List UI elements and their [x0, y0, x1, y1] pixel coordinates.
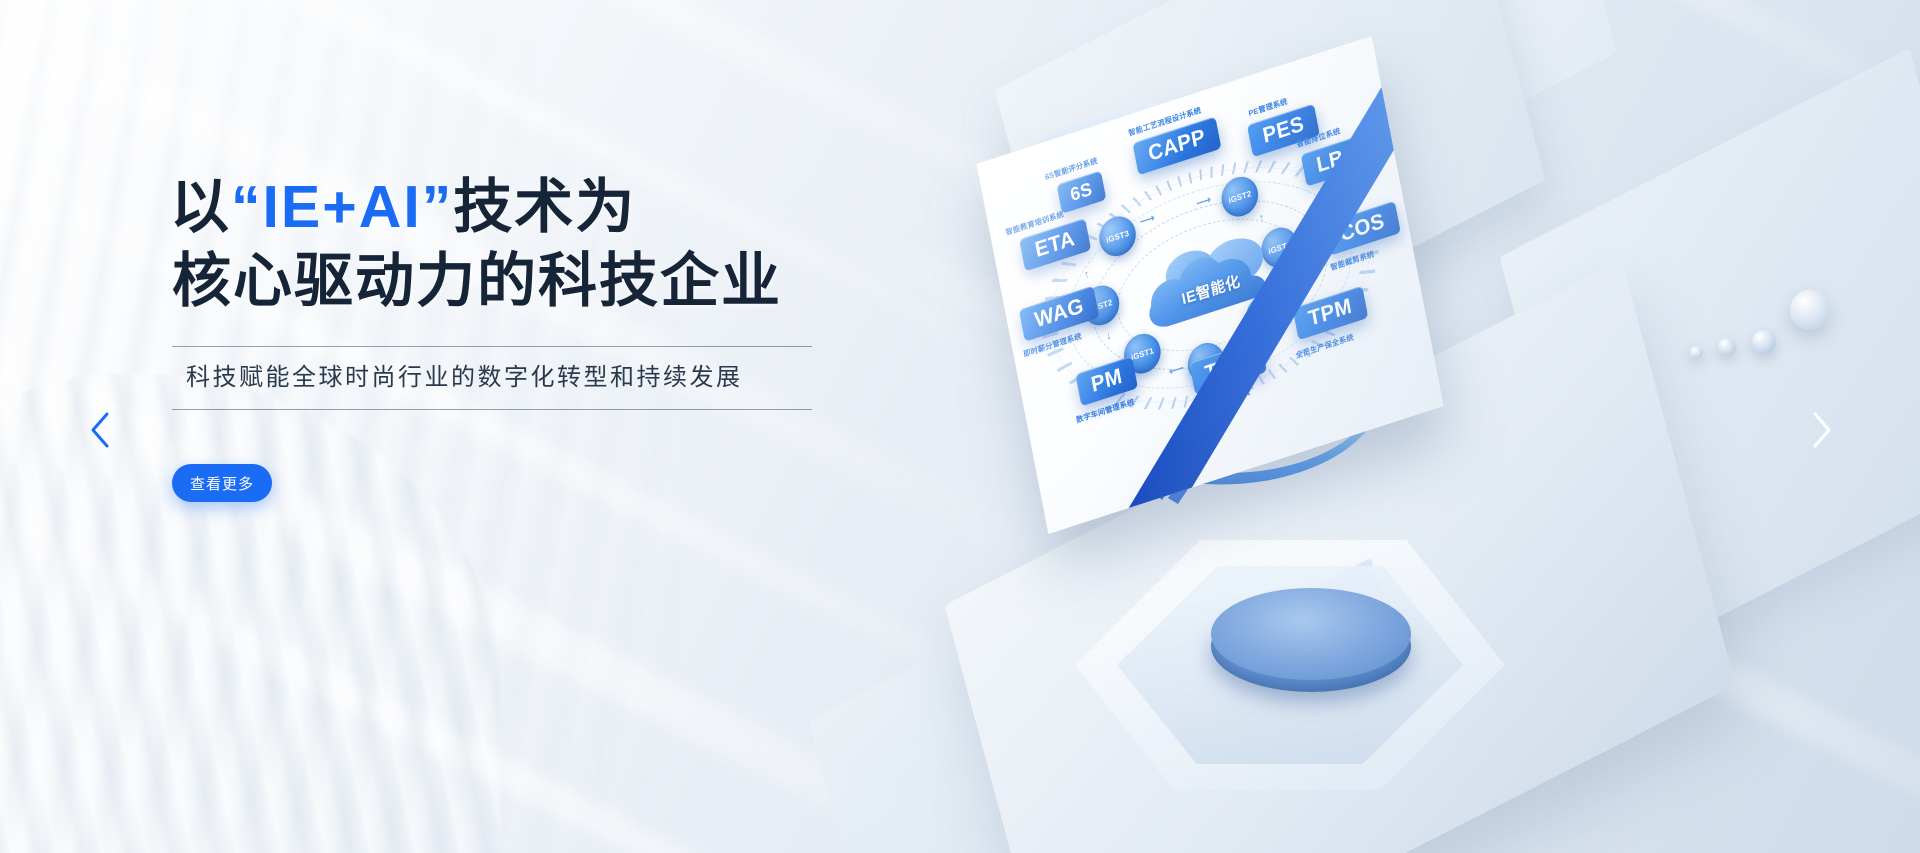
- hero-text-block: 以“IE+AI”技术为 核心驱动力的科技企业 科技赋能全球时尚行业的数字化转型和…: [170, 170, 870, 502]
- hero-banner: iGST3 iGST2 iGST1 iGST6 iGST5 iGST4 iGST…: [0, 0, 1920, 853]
- page-title-line-1: 以“IE+AI”技术为: [170, 170, 870, 244]
- headline-quote-open: “: [231, 174, 263, 240]
- headline-prefix: 以: [170, 174, 231, 240]
- headline-suffix: 技术为: [453, 174, 636, 240]
- satellite-label: iGST3: [1105, 228, 1129, 244]
- headline-quote-close: ”: [422, 174, 454, 240]
- decor-hex-podium: [1075, 540, 1505, 800]
- chevron-left-icon: [89, 411, 111, 449]
- carousel-prev-button[interactable]: [78, 408, 122, 452]
- divider-top: [172, 346, 812, 347]
- page-title-line-2: 核心驱动力的科技企业: [172, 244, 870, 318]
- headline-highlight: IE+AI: [263, 174, 422, 240]
- hero-subtitle: 科技赋能全球时尚行业的数字化转型和持续发展: [170, 347, 870, 409]
- carousel-next-button[interactable]: [1800, 408, 1844, 452]
- decor-sphere-large: [1790, 290, 1830, 330]
- chevron-right-icon: [1811, 411, 1833, 449]
- view-more-button[interactable]: 查看更多: [172, 464, 272, 502]
- divider-bottom: [172, 409, 812, 410]
- satellite-label: iGST2: [1228, 189, 1252, 205]
- decor-sphere-group: [1690, 330, 1820, 390]
